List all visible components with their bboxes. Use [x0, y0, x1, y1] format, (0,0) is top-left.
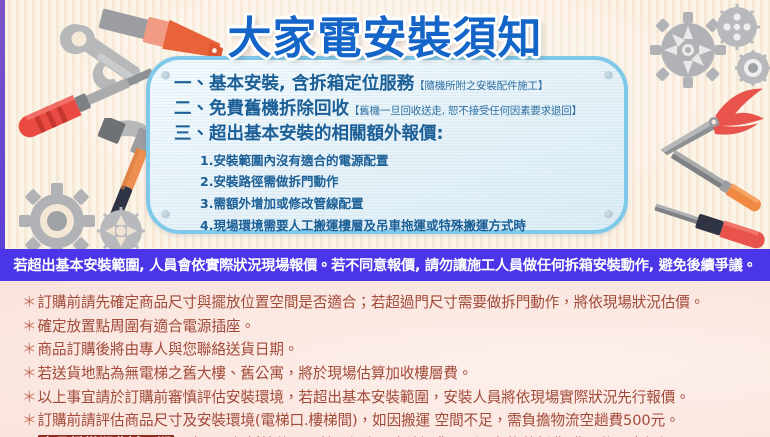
top-decorative-area: 大家電安裝須知 一、基本安裝, 含拆箱定位服務【隨機所附之安裝配件施工】 二、免… — [0, 0, 770, 249]
screwdriver-flat-icon — [650, 198, 770, 249]
panel-sub-item-1: 1.安裝範圍內沒有適合的電源配置 — [200, 150, 612, 172]
panel-sub-item-3: 3.需額外增加或修改管線配置 — [200, 193, 612, 215]
note-line-2: ＊確定放置點周圍有適合電源插座。 — [22, 315, 770, 339]
gear-small-icon — [95, 205, 147, 249]
note-text-3: 商品訂購後將由專人與您聯絡送貨日期。 — [38, 341, 299, 358]
note-line-3: ＊商品訂購後將由專人與您聯絡送貨日期。 — [22, 338, 770, 362]
note-line-4: ＊若送貨地點為無電梯之舊大樓、舊公寓，將於現場估算加收樓層費。 — [22, 362, 770, 386]
panel-item-3: 三、超出基本安裝的相關額外報價: — [174, 122, 612, 147]
note-star-1: ＊ — [22, 294, 37, 311]
panel-sub-item-2: 2.安裝路徑需做拆門動作 — [200, 171, 612, 193]
page-title: 大家電安裝須知 — [0, 2, 770, 66]
panel-item-1: 一、基本安裝, 含拆箱定位服務【隨機所附之安裝配件施工】 — [174, 72, 612, 97]
note-star-3: ＊ — [22, 341, 37, 358]
note-text-5: 以上事宜請於訂購前審慎評估安裝環境，若超出基本安裝範圍，安裝人員將依現場實際狀況… — [38, 389, 690, 406]
poster-canvas: 大家電安裝須知 一、基本安裝, 含拆箱定位服務【隨機所附之安裝配件施工】 二、免… — [0, 0, 770, 437]
note-star-6: ＊ — [22, 412, 37, 429]
panel-item-2: 二、免費舊機拆除回收【舊機一旦回收送走, 恕不接受任何因素要求退回】 — [174, 97, 612, 122]
panel-item-1-heading: 一、基本安裝, 含拆箱定位服務 — [174, 74, 414, 94]
warning-banner-text: 若超出基本安裝範圍, 人員會依實際狀況現場報價。若不同意報價, 請勿讓施工人員做… — [13, 255, 756, 275]
left-edge-accent-bar — [0, 0, 5, 249]
panel-item-3-heading: 三、超出基本安裝的相關額外報價: — [174, 124, 444, 144]
note-text-1: 訂購前請先確定商品尺寸與擺放位置空間是否適合；若超過門尺寸需要做拆門動作，將依現… — [38, 294, 705, 311]
notes-section: ＊訂購前請先確定商品尺寸與擺放位置空間是否適合；若超過門尺寸需要做拆門動作，將依… — [0, 281, 770, 437]
note-text-4: 若送貨地點為無電梯之舊大樓、舊公寓，將於現場估算加收樓層費。 — [38, 365, 473, 382]
panel-item-2-heading: 二、免費舊機拆除回收 — [174, 99, 349, 119]
rivet-top-left-icon — [161, 71, 170, 80]
note-text-2: 確定放置點周圍有適合電源插座。 — [38, 318, 255, 335]
note-line-6: ＊訂購前請評估商品尺寸及安裝環境(電梯口.樓梯間)，如因搬運 空間不足，需負擔物… — [22, 409, 770, 433]
panel-sub-item-4: 4.現場環境需要人工搬運樓層及吊車拖運或特殊搬運方式時 — [200, 215, 612, 237]
panel-content: 一、基本安裝, 含拆箱定位服務【隨機所附之安裝配件施工】 二、免費舊機拆除回收【… — [174, 72, 612, 237]
main-notice-panel: 一、基本安裝, 含拆箱定位服務【隨機所附之安裝配件施工】 二、免費舊機拆除回收【… — [146, 56, 628, 234]
panel-item-1-note: 【隨機所附之安裝配件施工】 — [414, 80, 548, 92]
note-star-5: ＊ — [22, 389, 37, 406]
note-text-6: 訂購前請評估商品尺寸及安裝環境(電梯口.樓梯間)，如因搬運 空間不足，需負擔物流… — [38, 412, 680, 429]
note-line-7: ＊商品鑑賞期非試用期，商品一經拆箱使用，若因個人因素欲退貨，則需負擔整新費(費用… — [22, 433, 770, 437]
note-line-1: ＊訂購前請先確定商品尺寸與擺放位置空間是否適合；若超過門尺寸需要做拆門動作，將依… — [22, 291, 770, 315]
warning-banner: 若超出基本安裝範圍, 人員會依實際狀況現場報價。若不同意報價, 請勿讓施工人員做… — [0, 249, 770, 281]
rivet-bottom-left-icon — [161, 210, 170, 219]
gear-large-icon — [18, 182, 96, 249]
note-line-5: ＊以上事宜請於訂購前審慎評估安裝環境，若超出基本安裝範圍，安裝人員將依現場實際狀… — [22, 386, 770, 410]
note-star-2: ＊ — [22, 318, 37, 335]
panel-item-2-note: 【舊機一旦回收送走, 恕不接受任何因素要求退回】 — [349, 105, 582, 117]
note-star-4: ＊ — [22, 365, 37, 382]
panel-sub-list: 1.安裝範圍內沒有適合的電源配置 2.安裝路徑需做拆門動作 3.需額外增加或修改… — [174, 150, 612, 237]
